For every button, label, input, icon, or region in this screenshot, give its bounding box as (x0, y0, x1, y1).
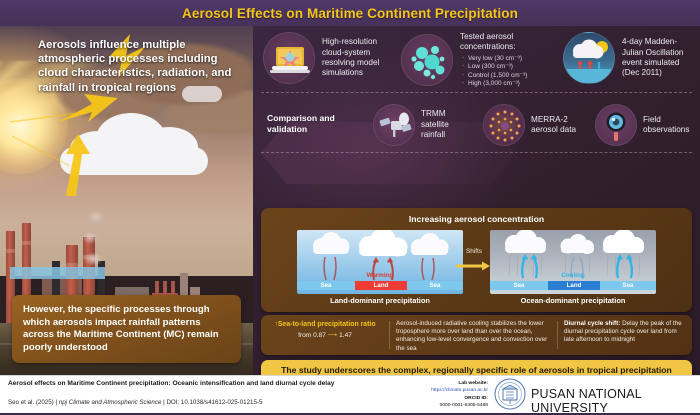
university-name: PUSAN NATIONAL UNIVERSITY (531, 387, 700, 415)
method-concentrations: Tested aerosol concentrations: Very low … (401, 32, 551, 88)
ratio-to: 1.47 (339, 332, 352, 339)
finding-diurnal-lead: Diurnal cycle shift: (564, 320, 620, 327)
finding-radiative-text: Aerosol-induced radiative cooling stabil… (396, 320, 550, 353)
finding-diurnal-text: Diurnal cycle shift: Delay the peak of t… (564, 320, 685, 345)
citation-authors: Seo et al. (2025) | (8, 399, 59, 406)
sea-segment-right-2: Sea (600, 281, 656, 290)
satellite-icon (373, 104, 415, 146)
mechanism-diagram: Increasing aerosol concentration (261, 208, 692, 312)
sun-cloud-rain-icon (563, 32, 615, 84)
ocean-dominant-caption: Ocean-dominant precipitation (483, 296, 663, 305)
paper-title: Aerosol effects on Maritime Continent pr… (8, 380, 358, 389)
right-content-panel: High-resolution cloud-system resolving m… (253, 26, 700, 375)
pusan-national-university-crest (494, 378, 526, 410)
validation-trmm-label: TRMM satellite rainfall (421, 109, 469, 140)
concentrations-heading: Tested aerosol concentrations: (460, 32, 546, 53)
validation-label-text: Comparison and validation (267, 113, 359, 134)
finding-ratio-heading: ↑Sea-to-land precipitation ratio (268, 320, 382, 329)
lab-website-label: Lab website: (396, 380, 488, 387)
sea-segment-left: Sea (297, 281, 355, 290)
land-dominant-caption: Land-dominant precipitation (290, 296, 470, 305)
page-title: Aerosol Effects on Maritime Continent Pr… (182, 6, 518, 21)
land-segment-warm: Land (355, 281, 407, 290)
concentrations-list: Very low (30 cm⁻³) Low (300 cm⁻³) Contro… (462, 55, 546, 89)
method-model-label: High-resolution cloud-system resolving m… (322, 37, 386, 79)
validation-field: Field observations (595, 104, 695, 146)
cooling-label: Cooling (490, 272, 656, 279)
aerosol-dot-grid-icon (483, 104, 525, 146)
aerosol-particles-icon (401, 34, 453, 86)
list-item: Control (1,500 cm⁻³) (462, 72, 546, 80)
divider-dashed (261, 92, 692, 93)
validation-field-label: Field observations (643, 115, 691, 136)
left-lead-text: Aerosols influence multiple atmospheric … (38, 38, 243, 95)
finding-ratio-values: from 0.87 ⟶ 1.47 (268, 331, 382, 340)
diagram-title: Increasing aerosol concentration (261, 214, 692, 224)
list-item: Very low (30 cm⁻³) (462, 55, 546, 63)
land-segment-cool: Land (548, 281, 600, 290)
finding-radiative-cooling: Aerosol-induced radiative cooling stabil… (389, 315, 557, 355)
ocean-dominant-scene: Cooling Sea Land Sea (490, 230, 656, 294)
lab-links: Lab website: https://climate.pusan.ac.kr… (396, 380, 488, 410)
left-illustration-panel: Aerosols influence multiple atmospheric … (0, 26, 253, 375)
method-mjo-label: 4-day Madden-Julian Oscillation event si… (622, 37, 688, 79)
land-dominant-scene: Warming Sea Land Sea (297, 230, 463, 294)
lab-website-url[interactable]: https://climate.pusan.ac.kr (396, 387, 488, 394)
knowledge-gap-box: However, the specific processes through … (12, 295, 241, 363)
method-mjo: 4-day Madden-Julian Oscillation event si… (563, 32, 693, 84)
sea-segment-right: Sea (407, 281, 463, 290)
method-model: High-resolution cloud-system resolving m… (263, 32, 388, 84)
orcid-label: ORCID ID: (396, 395, 488, 402)
validation-merra-label: MERRA-2 aerosol data (531, 115, 589, 136)
finding-ratio-text: Sea-to-land precipitation ratio (278, 321, 376, 328)
list-item: Low (300 cm⁻³) (462, 63, 546, 71)
citation: Seo et al. (2025) | npj Climate and Atmo… (8, 399, 408, 406)
orcid-value: 0000-0001-6305-5488 (396, 402, 488, 409)
validation-trmm: TRMM satellite rainfall (373, 104, 483, 146)
findings-row: ↑Sea-to-land precipitation ratio from 0.… (261, 315, 692, 355)
shift-arrow-icon (456, 261, 492, 271)
footer: Aerosol effects on Maritime Continent pr… (0, 375, 700, 413)
infographic-page: Aerosol Effects on Maritime Continent Pr… (0, 0, 700, 413)
magnifier-eye-icon (595, 104, 637, 146)
smoke-plume (78, 205, 108, 265)
divider-dashed-2 (261, 152, 692, 153)
warming-label: Warming (297, 272, 463, 279)
citation-doi: | DOI: 10.1038/s41612-025-01215-5 (161, 399, 262, 406)
list-item: High (3,000 cm⁻³) (462, 80, 546, 88)
sea-segment-left-2: Sea (490, 281, 548, 290)
finding-ratio: ↑Sea-to-land precipitation ratio from 0.… (261, 315, 389, 355)
knowledge-gap-text: However, the specific processes through … (23, 304, 219, 352)
footer-divider (0, 375, 700, 376)
validation-merra: MERRA-2 aerosol data (483, 104, 598, 146)
laptop-cloud-model-icon (263, 32, 315, 84)
validation-section-label: Comparison and validation (267, 102, 377, 146)
ratio-arrow-icon: ⟶ (328, 332, 337, 339)
finding-diurnal-shift: Diurnal cycle shift: Delay the peak of t… (557, 315, 692, 355)
ratio-from: from 0.87 (298, 332, 326, 339)
shift-label: Shifts (457, 248, 491, 255)
water-body (10, 267, 105, 279)
citation-journal: npj Climate and Atmospheric Science (59, 399, 162, 406)
title-bar: Aerosol Effects on Maritime Continent Pr… (0, 0, 700, 26)
